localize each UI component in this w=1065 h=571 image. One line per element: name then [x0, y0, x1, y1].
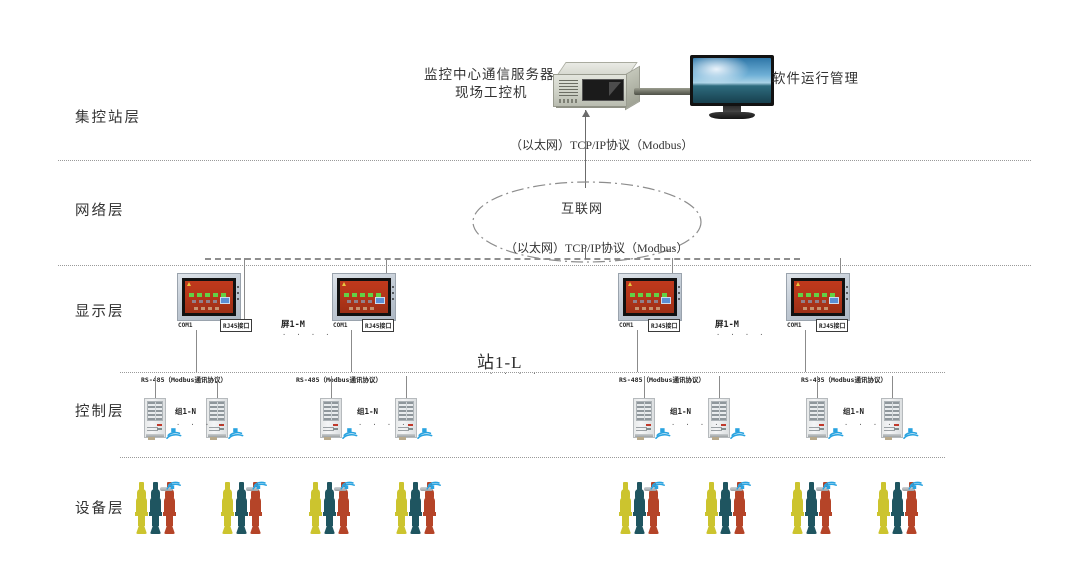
com-port-label-3: COM1	[619, 322, 633, 329]
uplink-protocol-label: （以太网）TCP/IP协议（Modbus）	[510, 136, 693, 153]
group-range-label-2: 组1-N	[357, 406, 378, 417]
rj45-port-label-4: RJ45接口	[816, 319, 848, 332]
downlink-protocol-label: （以太网）TCP/IP协议（Modbus）	[505, 239, 688, 256]
layer-label-display: 显示层	[75, 300, 125, 321]
divider-station-network	[58, 160, 1031, 161]
hmi-panel-3[interactable]	[618, 273, 682, 321]
device-bottle	[706, 482, 717, 534]
wifi-icon	[822, 477, 838, 490]
rj45-drop-line-1	[244, 258, 245, 320]
com-drop-line-4	[805, 330, 806, 372]
internet-label: 互联网	[561, 198, 603, 217]
rs485-bus-label-1: RS-485（Modbus通讯协议）	[140, 374, 228, 384]
controller-cabinet-2a[interactable]	[320, 398, 342, 438]
group-range-dots-1: · · · ·	[176, 421, 227, 429]
controller-cabinet-4b[interactable]	[881, 398, 903, 438]
com-port-label-4: COM1	[787, 322, 801, 329]
cab-drop-line-1a	[155, 376, 156, 398]
device-group[interactable]	[396, 478, 440, 534]
server-label-line1: 监控中心通信服务器	[424, 63, 555, 83]
layer-label-control: 控制层	[75, 400, 125, 421]
wifi-icon	[736, 477, 752, 490]
cab-drop-line-1b	[217, 376, 218, 398]
device-group[interactable]	[136, 478, 180, 534]
layer-label-network: 网络层	[75, 199, 125, 220]
screen-range-dots-1: · · · ·	[282, 331, 333, 339]
screen-range-label-2: 屏1-M	[715, 318, 739, 330]
group-range-label-4: 组1-N	[843, 406, 864, 417]
controller-cabinet-3a[interactable]	[633, 398, 655, 438]
wifi-icon	[340, 477, 356, 490]
hmi-panel-2[interactable]	[332, 273, 396, 321]
wifi-icon	[908, 477, 924, 490]
wifi-icon-1b	[228, 426, 244, 439]
layer-label-device: 设备层	[75, 497, 125, 518]
wifi-icon-2b	[417, 426, 433, 439]
monitor-icon	[690, 55, 774, 121]
rj45-port-label-3: RJ45接口	[648, 319, 680, 332]
hmi-panel-4[interactable]	[786, 273, 850, 321]
com-drop-line-1	[196, 330, 197, 372]
group-range-dots-3: · · · ·	[671, 421, 722, 429]
rj45-port-label-2: RJ45接口	[362, 319, 394, 332]
controller-cabinet-1a[interactable]	[144, 398, 166, 438]
communication-server-icon	[553, 62, 641, 108]
rs485-bus-label-2: RS-485（Modbus通讯协议）	[295, 374, 383, 384]
device-group[interactable]	[222, 478, 266, 534]
screen-range-dots-2: · · · ·	[716, 331, 767, 339]
device-bottle	[310, 482, 321, 534]
diagram-canvas: 集控站层 网络层 显示层 控制层 设备层 监控中心通信服务器 现场工控机 软件运…	[0, 0, 1065, 571]
divider-control-device	[120, 457, 945, 458]
rs485-bus-label-3: RS-485（Modbus通讯协议）	[618, 374, 706, 384]
wifi-icon	[650, 477, 666, 490]
cloud-bus-line	[585, 248, 586, 259]
device-bottle	[222, 482, 233, 534]
com-port-label-1: COM1	[178, 322, 192, 329]
rj45-port-label-1: RJ45接口	[220, 319, 252, 332]
controller-cabinet-1b[interactable]	[206, 398, 228, 438]
group-range-dots-4: · · · ·	[844, 421, 895, 429]
device-group[interactable]	[706, 478, 750, 534]
cab-drop-line-4b	[892, 376, 893, 398]
wifi-icon	[252, 477, 268, 490]
group-range-dots-2: · · · ·	[358, 421, 409, 429]
com-drop-line-3	[637, 330, 638, 372]
controller-cabinet-2b[interactable]	[395, 398, 417, 438]
device-bottle	[792, 482, 803, 534]
screen-range-label-1: 屏1-M	[281, 318, 305, 330]
divider-network-display	[58, 265, 1031, 266]
device-group[interactable]	[792, 478, 836, 534]
device-bottle	[136, 482, 147, 534]
cab-drop-line-3b	[719, 376, 720, 398]
wifi-icon-3b	[730, 426, 746, 439]
group-range-label-1: 组1-N	[175, 406, 196, 417]
device-bottle	[878, 482, 889, 534]
server-label-line2: 现场工控机	[455, 81, 528, 101]
cab-drop-line-3a	[644, 376, 645, 398]
com-drop-line-2	[351, 330, 352, 372]
station-range-dots: · · · ·	[489, 370, 540, 378]
device-group[interactable]	[310, 478, 354, 534]
layer-label-station-control: 集控站层	[75, 106, 141, 127]
cab-drop-line-2a	[331, 376, 332, 398]
wifi-icon-4b	[903, 426, 919, 439]
wifi-icon-4a	[828, 426, 844, 439]
hmi-panel-1[interactable]	[177, 273, 241, 321]
group-range-label-3: 组1-N	[670, 406, 691, 417]
ethernet-bus	[205, 258, 800, 260]
controller-cabinet-3b[interactable]	[708, 398, 730, 438]
device-group[interactable]	[620, 478, 664, 534]
rs485-bus-label-4: RS-485（Modbus通讯协议）	[800, 374, 888, 384]
wifi-icon-2a	[342, 426, 358, 439]
wifi-icon-3a	[655, 426, 671, 439]
com-port-label-2: COM1	[333, 322, 347, 329]
video-cable	[634, 88, 694, 95]
wifi-icon	[426, 477, 442, 490]
wifi-icon	[166, 477, 182, 490]
controller-cabinet-4a[interactable]	[806, 398, 828, 438]
cab-drop-line-4a	[817, 376, 818, 398]
device-bottle	[396, 482, 407, 534]
device-bottle	[620, 482, 631, 534]
device-group[interactable]	[878, 478, 922, 534]
monitor-label: 软件运行管理	[772, 67, 859, 87]
cab-drop-line-2b	[406, 376, 407, 398]
